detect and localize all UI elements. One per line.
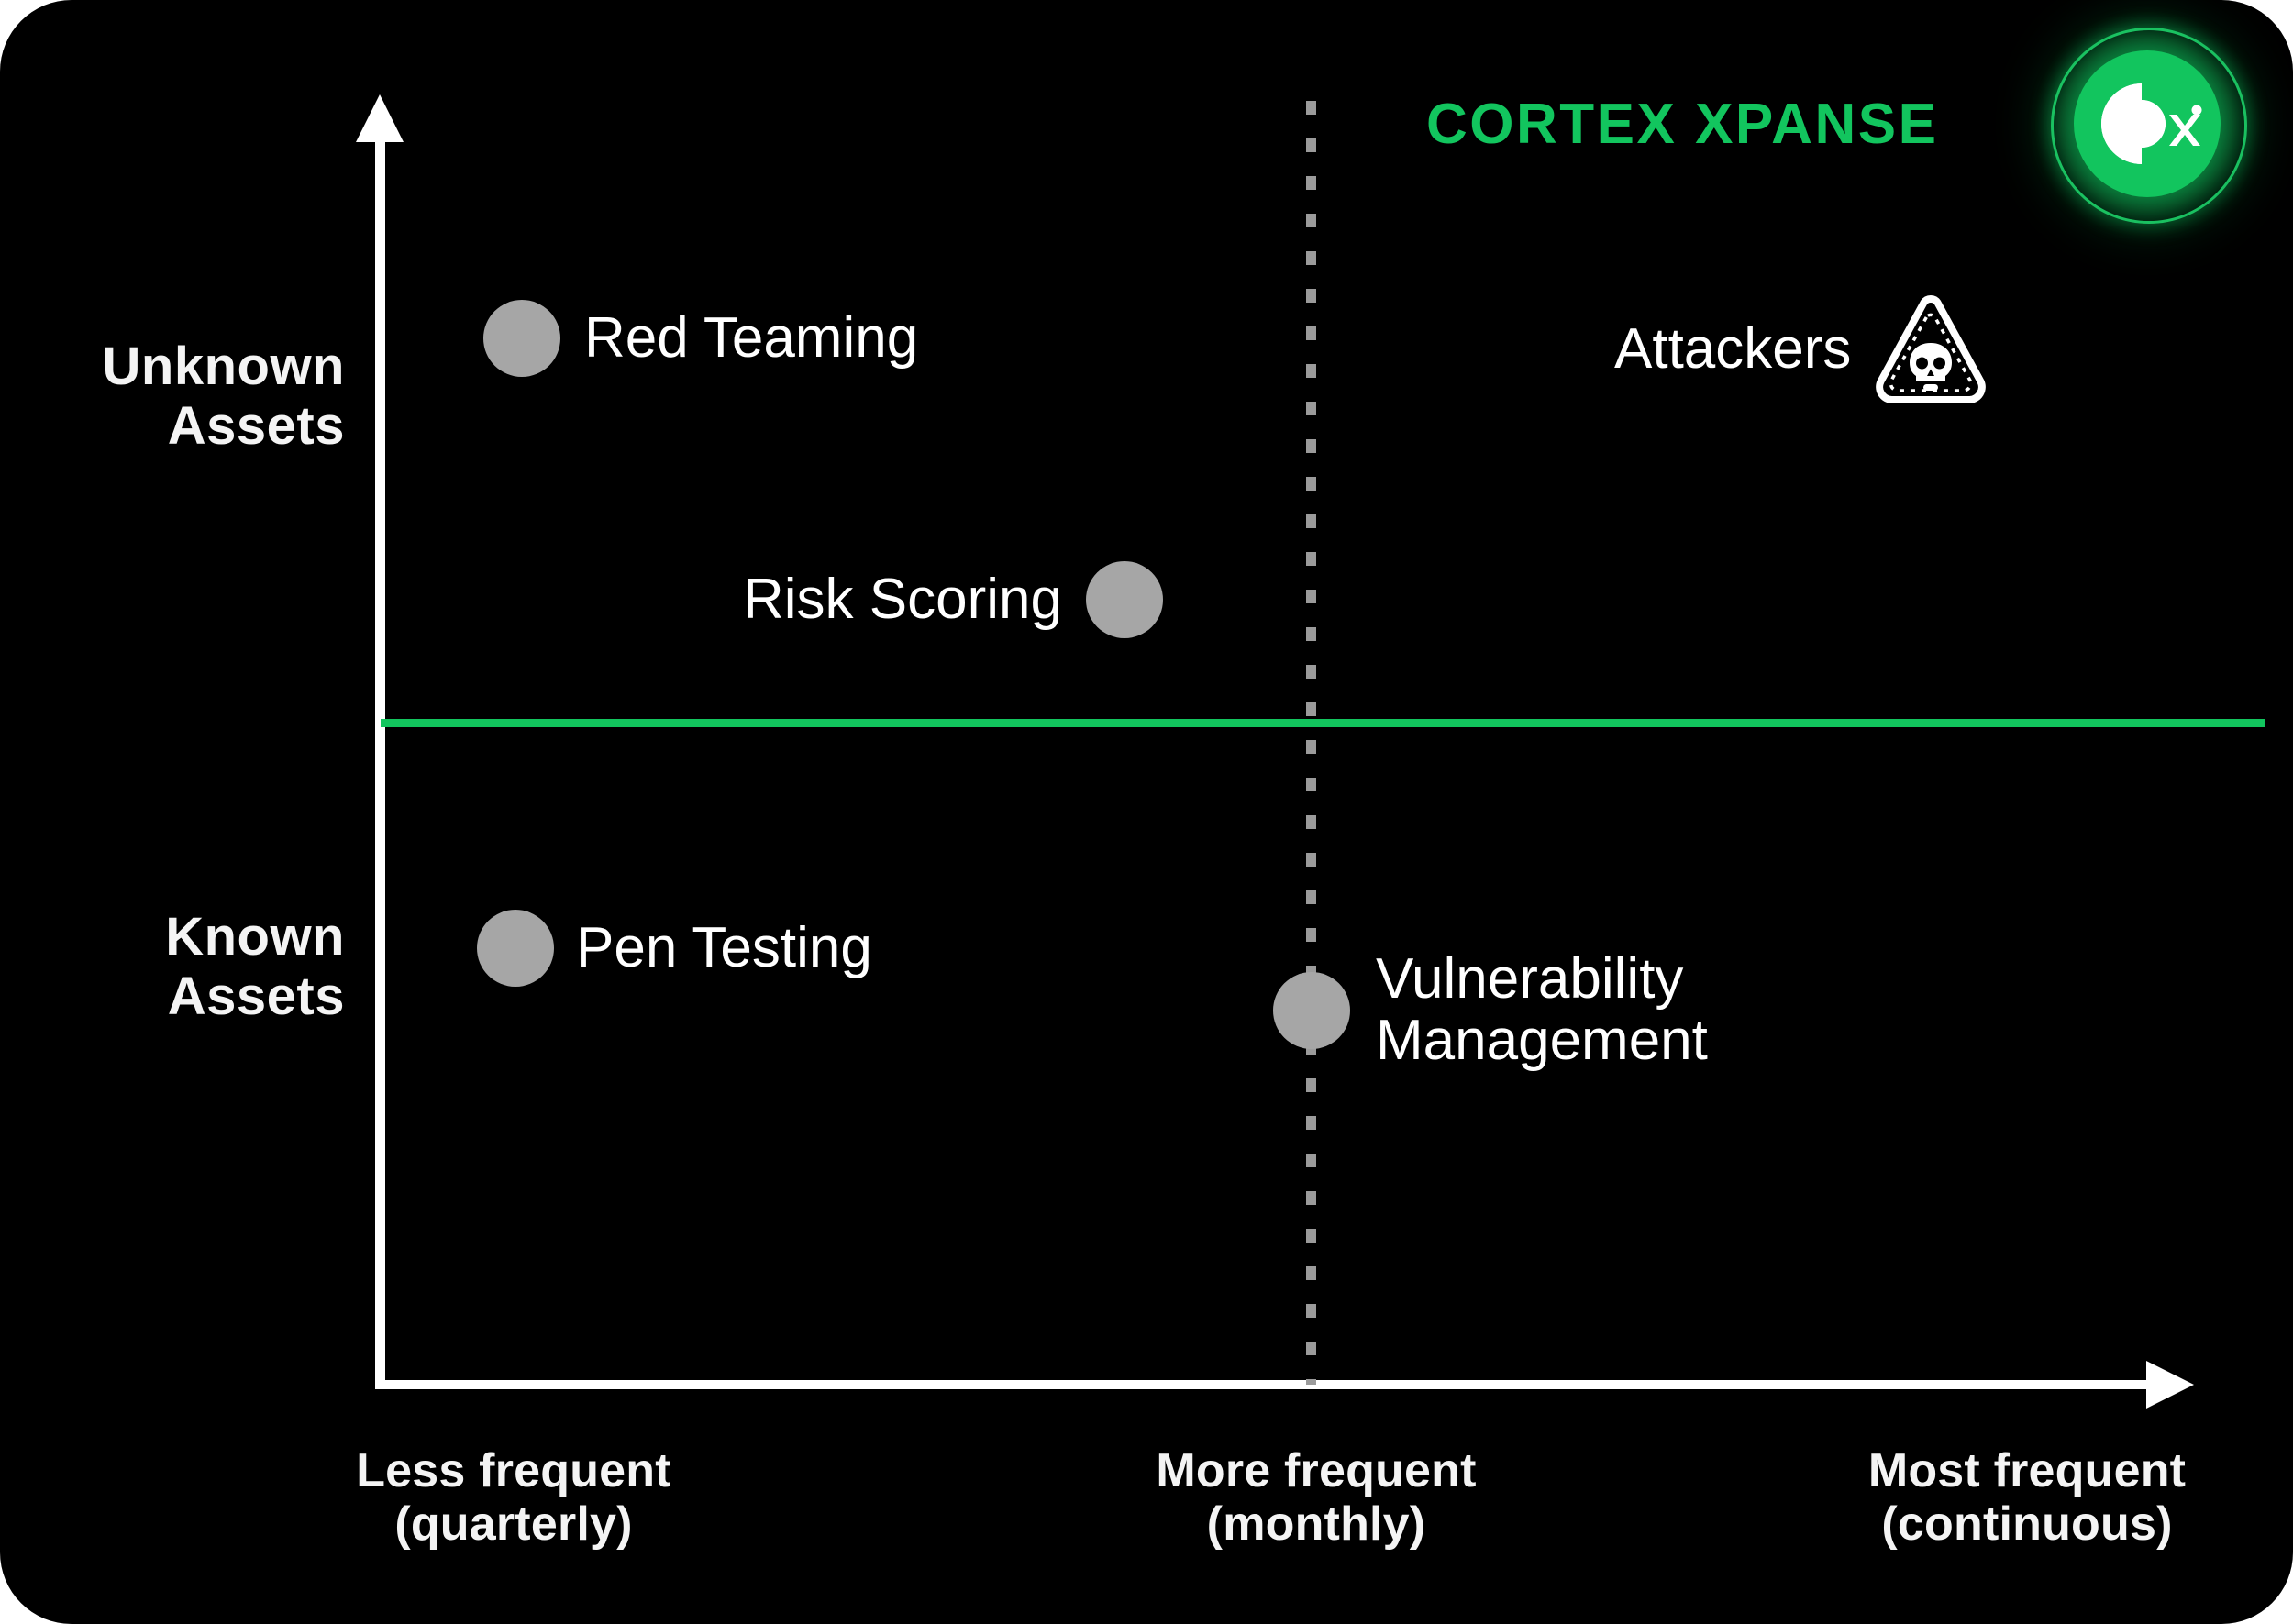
y-axis-label-unknown-assets: UnknownAssets xyxy=(18,337,345,457)
data-point-label: Attackers xyxy=(1614,319,1851,381)
x-axis-label-more-line2: (monthly) xyxy=(1207,1497,1426,1551)
y-axis-label-unknown-line2: Assets xyxy=(168,396,345,456)
x-axis-label-less-frequent: Less frequent(quarterly) xyxy=(275,1444,752,1551)
data-point-label: Pen Testing xyxy=(576,918,872,979)
data-point-marker-icon xyxy=(477,910,554,987)
y-axis-label-known-line1: Known xyxy=(165,907,345,967)
known-unknown-divider-line xyxy=(381,719,2265,727)
x-axis-label-less-line1: Less frequent xyxy=(356,1444,671,1497)
data-point-vulnerability-management: Vulnerability Management xyxy=(1273,949,1708,1072)
chart-canvas: UnknownAssets KnownAssets Less frequent(… xyxy=(0,0,2293,1624)
y-axis-label-known-line2: Assets xyxy=(168,967,345,1026)
data-point-label: Red Teaming xyxy=(584,308,918,370)
data-point-attackers: Attackers xyxy=(1614,293,1990,405)
monthly-marker-dashed-line xyxy=(1306,101,1316,1385)
data-point-marker-icon xyxy=(483,300,560,377)
y-axis-arrow-icon xyxy=(356,94,404,142)
x-axis-label-less-line2: (quarterly) xyxy=(394,1497,632,1551)
x-axis-label-more-frequent: More frequent(monthly) xyxy=(1078,1444,1555,1551)
x-axis xyxy=(375,1380,2164,1389)
data-point-red-teaming: Red Teaming xyxy=(483,300,918,377)
x-axis-label-most-line2: (continuous) xyxy=(1881,1497,2172,1551)
x-axis-label-most-line1: Most frequent xyxy=(1868,1444,2186,1497)
x-axis-label-most-frequent: Most frequent(continuous) xyxy=(1770,1444,2284,1551)
data-point-risk-scoring: Risk Scoring xyxy=(743,561,1163,638)
logo-mark-icon xyxy=(2074,50,2221,197)
data-point-label: Risk Scoring xyxy=(743,569,1062,631)
y-axis-label-known-assets: KnownAssets xyxy=(18,908,345,1027)
warning-skull-icon xyxy=(1871,293,1990,405)
x-axis-label-more-line1: More frequent xyxy=(1156,1444,1476,1497)
y-axis-label-unknown-line1: Unknown xyxy=(103,337,345,396)
brand-wordmark: CORTEX XPANSE xyxy=(1426,92,1938,157)
data-point-marker-icon xyxy=(1086,561,1163,638)
x-axis-arrow-icon xyxy=(2146,1361,2194,1409)
data-point-label: Vulnerability Management xyxy=(1376,949,1708,1072)
data-point-marker-icon xyxy=(1273,972,1350,1049)
data-point-pen-testing: Pen Testing xyxy=(477,910,872,987)
brand-lockup: CORTEX XPANSE xyxy=(1426,92,1938,157)
y-axis xyxy=(375,128,385,1385)
cortex-xpanse-logo-icon xyxy=(2044,20,2251,227)
